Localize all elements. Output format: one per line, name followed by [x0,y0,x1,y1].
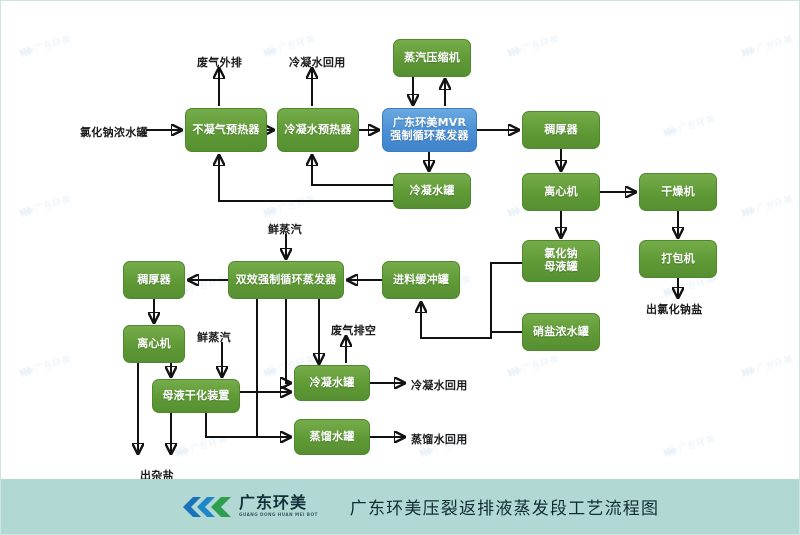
node-label: 广东环美MVR强制循环蒸发器 [390,117,468,142]
node-preheater_cond[interactable]: 冷凝水预热器 [277,108,359,152]
node-label-line1: 母液干化装置 [162,389,229,402]
flow-label-fresh_steam_2: 鲜蒸汽 [197,329,231,345]
node-label-line1: 干燥机 [661,185,695,198]
node-label-line1: 稠厚器 [544,123,578,136]
chevron-arrows-logo-icon [181,494,233,520]
node-packer[interactable]: 打包机 [639,240,717,278]
node-thickener_right[interactable]: 稠厚器 [522,111,600,149]
node-feed_buffer[interactable]: 进料缓冲罐 [382,261,460,299]
node-label: 稠厚器 [544,124,578,137]
node-label: 离心机 [137,338,171,351]
flow-diagram-page: 广东环美广东环美广东环美广东环美广东环美广东环美广东环美广东环美广东环美广东环美… [0,0,800,535]
node-label-line1: 离心机 [544,185,578,198]
node-cond_tank_bottom[interactable]: 冷凝水罐 [294,365,370,401]
node-centrifuge_left[interactable]: 离心机 [123,325,185,363]
flow-label-nacl_salt_out: 出氯化钠盐 [646,301,703,317]
node-cond_tank_top[interactable]: 冷凝水罐 [393,173,471,209]
logo-text: 广东环美 GUANG DONG HUAN MEI BOT [239,495,318,517]
node-dryer[interactable]: 干燥机 [639,173,717,211]
node-label-line1: 冷凝水罐 [410,184,455,197]
logo-english-name: GUANG DONG HUAN MEI BOT [239,513,318,517]
node-label: 冷凝水预热器 [284,124,351,137]
company-logo: 广东环美 GUANG DONG HUAN MEI BOT [181,494,318,520]
node-label: 蒸馏水罐 [310,431,355,444]
node-label-line2: 母液罐 [544,261,578,274]
node-thickener_left[interactable]: 稠厚器 [123,261,185,299]
node-label-line1: 打包机 [661,252,695,265]
node-label-line1: 广东环美MVR [393,116,466,129]
node-label-line1: 不凝气预热器 [192,123,259,136]
node-label-line1: 蒸汽压缩机 [404,51,460,64]
node-mother_dryer[interactable]: 母液干化装置 [152,379,240,413]
node-label-line1: 冷凝水预热器 [284,123,351,136]
flow-label-fresh_steam_1: 鲜蒸汽 [268,221,302,237]
flow-label-cond_reuse_bot: 冷凝水回用 [411,377,468,393]
node-label: 氯化钠母液罐 [544,248,578,273]
flow-label-waste_gas_out: 废气外排 [197,54,242,70]
node-centrifuge_right[interactable]: 离心机 [522,173,600,211]
node-label: 蒸汽压缩机 [404,52,460,65]
node-label: 离心机 [544,186,578,199]
node-label-line1: 双效强制循环蒸发器 [236,273,337,286]
node-label: 双效强制循环蒸发器 [236,274,337,287]
node-label-line1: 冷凝水罐 [310,376,355,389]
node-label: 干燥机 [661,186,695,199]
flow-label-cond_reuse_top: 冷凝水回用 [289,54,346,70]
node-layer: 不凝气预热器冷凝水预热器广东环美MVR强制循环蒸发器蒸汽压缩机冷凝水罐稠厚器离心… [1,1,799,534]
flow-label-distill_reuse: 蒸馏水回用 [411,431,468,447]
node-label-line1: 进料缓冲罐 [393,273,449,286]
node-label: 稠厚器 [137,274,171,287]
node-nitrate_tank[interactable]: 硝盐浓水罐 [522,313,600,351]
node-label-line1: 稠厚器 [137,273,171,286]
diagram-title: 广东环美压裂返排液蒸发段工艺流程图 [350,494,659,519]
footer-banner: 广东环美 GUANG DONG HUAN MEI BOT 广东环美压裂返排液蒸发… [1,479,800,534]
flow-label-feed_in: 氯化钠浓水罐 [80,124,148,140]
node-label-line1: 氯化钠 [544,247,578,260]
flow-label-waste_gas_vent: 废气排空 [331,322,376,338]
logo-chinese-name: 广东环美 [239,495,318,511]
node-label-line2: 强制循环蒸发器 [390,130,468,143]
node-label: 母液干化装置 [162,390,229,403]
node-label: 冷凝水罐 [410,185,455,198]
node-label-line1: 离心机 [137,337,171,350]
node-label-line1: 蒸馏水罐 [310,430,355,443]
node-compressor[interactable]: 蒸汽压缩机 [393,39,471,77]
node-double_effect[interactable]: 双效强制循环蒸发器 [228,261,344,299]
node-mvr[interactable]: 广东环美MVR强制循环蒸发器 [382,108,477,152]
node-label: 打包机 [661,253,695,266]
node-label-line1: 硝盐浓水罐 [533,325,589,338]
node-label: 不凝气预热器 [192,124,259,137]
node-nacl_mother[interactable]: 氯化钠母液罐 [522,240,600,282]
node-label: 硝盐浓水罐 [533,326,589,339]
node-label: 进料缓冲罐 [393,274,449,287]
node-distill_tank[interactable]: 蒸馏水罐 [294,419,370,455]
node-label: 冷凝水罐 [310,377,355,390]
node-preheater_noncond[interactable]: 不凝气预热器 [185,108,267,152]
